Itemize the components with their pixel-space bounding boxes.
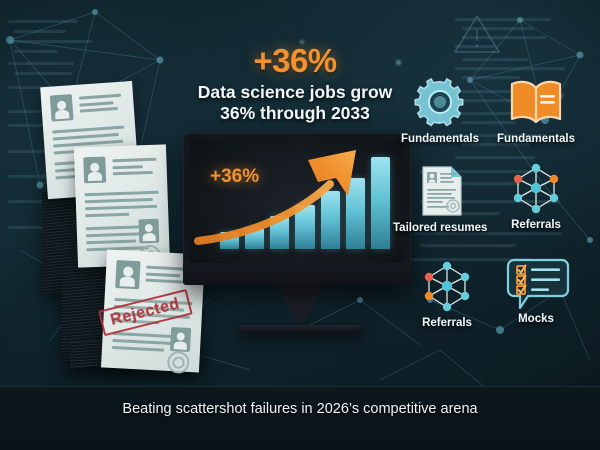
growth-arrow-icon xyxy=(190,140,404,263)
headline-subtitle: Data science jobs grow 36% through 2033 xyxy=(170,82,420,125)
network-nodes-icon xyxy=(506,160,566,216)
resume-document-icon xyxy=(410,163,470,219)
monitor-screen: +36% xyxy=(190,140,404,263)
icon-label: Referrals xyxy=(492,219,580,231)
headline-block: +36% Data science jobs grow 36% through … xyxy=(170,44,420,125)
icon-label: Fundamentals xyxy=(400,133,480,145)
resume-sheet xyxy=(74,144,170,267)
monitor: +36% xyxy=(183,133,411,285)
icon-label: Fundamentals xyxy=(493,133,579,145)
icon-label: Tailored resumes xyxy=(393,222,487,234)
headline-subtitle-line2: 36% through 2033 xyxy=(170,103,420,124)
open-book-icon xyxy=(506,74,566,130)
icon-cell-tailored-resumes[interactable]: Tailored resumes xyxy=(393,163,487,234)
gear-seal-icon xyxy=(167,351,190,374)
footer-band xyxy=(0,386,600,450)
icon-cell-referrals-top[interactable]: Referrals xyxy=(492,160,580,231)
footer-caption: Beating scattershot failures in 2026’s c… xyxy=(0,401,600,417)
headline-subtitle-line1: Data science jobs grow xyxy=(170,82,420,103)
growth-chart: +36% xyxy=(190,140,404,263)
icon-cell-fundamentals-book[interactable]: Fundamentals xyxy=(493,74,579,145)
icon-cell-mocks[interactable]: Mocks xyxy=(496,254,576,325)
footer-divider xyxy=(0,386,600,387)
monitor-stand-neck xyxy=(274,283,326,327)
network-nodes-icon xyxy=(417,258,477,314)
infographic-canvas: +36% Data science jobs grow 36% through … xyxy=(0,0,600,450)
monitor-stand-base xyxy=(238,325,362,334)
icon-label: Mocks xyxy=(496,313,576,325)
icon-cell-referrals-bottom[interactable]: Referrals xyxy=(403,258,491,329)
headline-percent: +36% xyxy=(170,44,420,77)
monitor-chin xyxy=(183,263,411,285)
speech-checklist-icon xyxy=(506,254,566,310)
icon-label: Referrals xyxy=(403,317,491,329)
